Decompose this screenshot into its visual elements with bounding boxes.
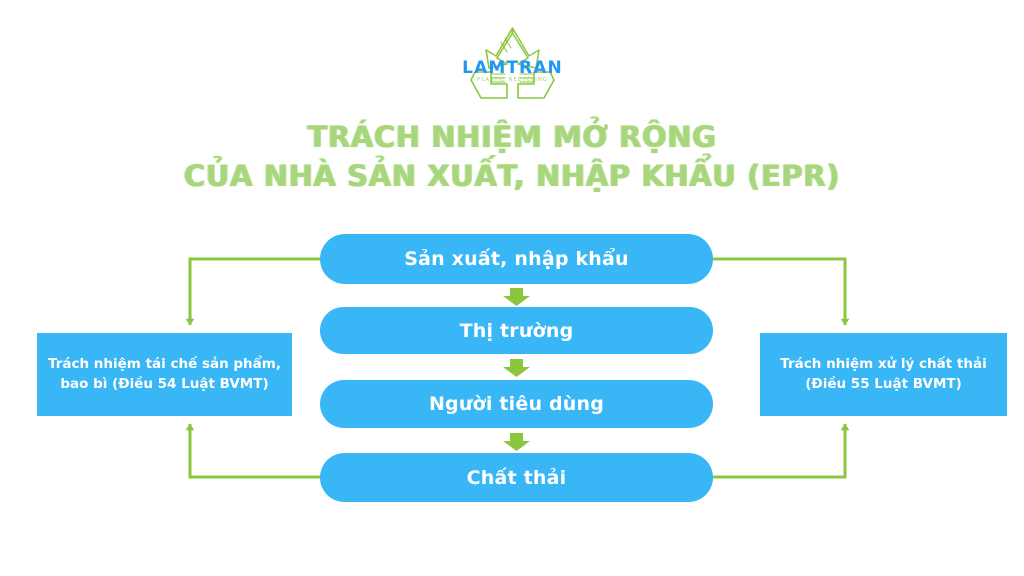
flow-step-waste[interactable]: Chất thải [320, 453, 713, 502]
connector-waste-to-treatment [713, 424, 845, 477]
responsibility-box-treatment[interactable]: Trách nhiệm xử lý chất thải (Điều 55 Luậ… [760, 333, 1007, 416]
logo-tagline: PLASTIC RECYCLING [455, 78, 570, 83]
arrow-down-icon [503, 433, 530, 451]
lamtran-logo: LAMTRAN PLASTIC RECYCLING [455, 22, 570, 108]
flow-step-label: Thị trường [460, 320, 574, 342]
infographic-canvas: LAMTRAN PLASTIC RECYCLING TRÁCH NHIỆM MỞ… [0, 0, 1024, 576]
responsibility-recycling-line-1: Trách nhiệm tái chế sản phẩm, [48, 356, 281, 372]
responsibility-recycling-line-2: bao bì (Điều 54 Luật BVMT) [60, 376, 268, 392]
connector-waste-to-recycling [190, 424, 320, 477]
responsibility-box-recycling[interactable]: Trách nhiệm tái chế sản phẩm, bao bì (Đi… [37, 333, 292, 416]
flow-step-label: Người tiêu dùng [429, 393, 604, 415]
connector-production-to-recycling [190, 259, 320, 325]
flow-step-label: Chất thải [467, 467, 567, 489]
page-title-line-1: TRÁCH NHIỆM MỞ RỘNG [0, 118, 1024, 157]
arrow-down-icon [503, 359, 530, 377]
flow-step-label: Sản xuất, nhập khẩu [404, 248, 629, 270]
flow-step-production[interactable]: Sản xuất, nhập khẩu [320, 234, 713, 284]
flow-step-market[interactable]: Thị trường [320, 307, 713, 354]
arrow-down-icon [503, 288, 530, 306]
logo-wordmark: LAMTRAN [455, 60, 570, 77]
responsibility-treatment-line-2: (Điều 55 Luật BVMT) [805, 376, 962, 392]
page-title: TRÁCH NHIỆM MỞ RỘNG CỦA NHÀ SẢN XUẤT, NH… [0, 118, 1024, 196]
responsibility-treatment-line-1: Trách nhiệm xử lý chất thải [780, 356, 986, 372]
flow-step-consumer[interactable]: Người tiêu dùng [320, 380, 713, 428]
page-title-line-2: CỦA NHÀ SẢN XUẤT, NHẬP KHẨU (EPR) [0, 157, 1024, 196]
connector-production-to-treatment [713, 259, 845, 325]
